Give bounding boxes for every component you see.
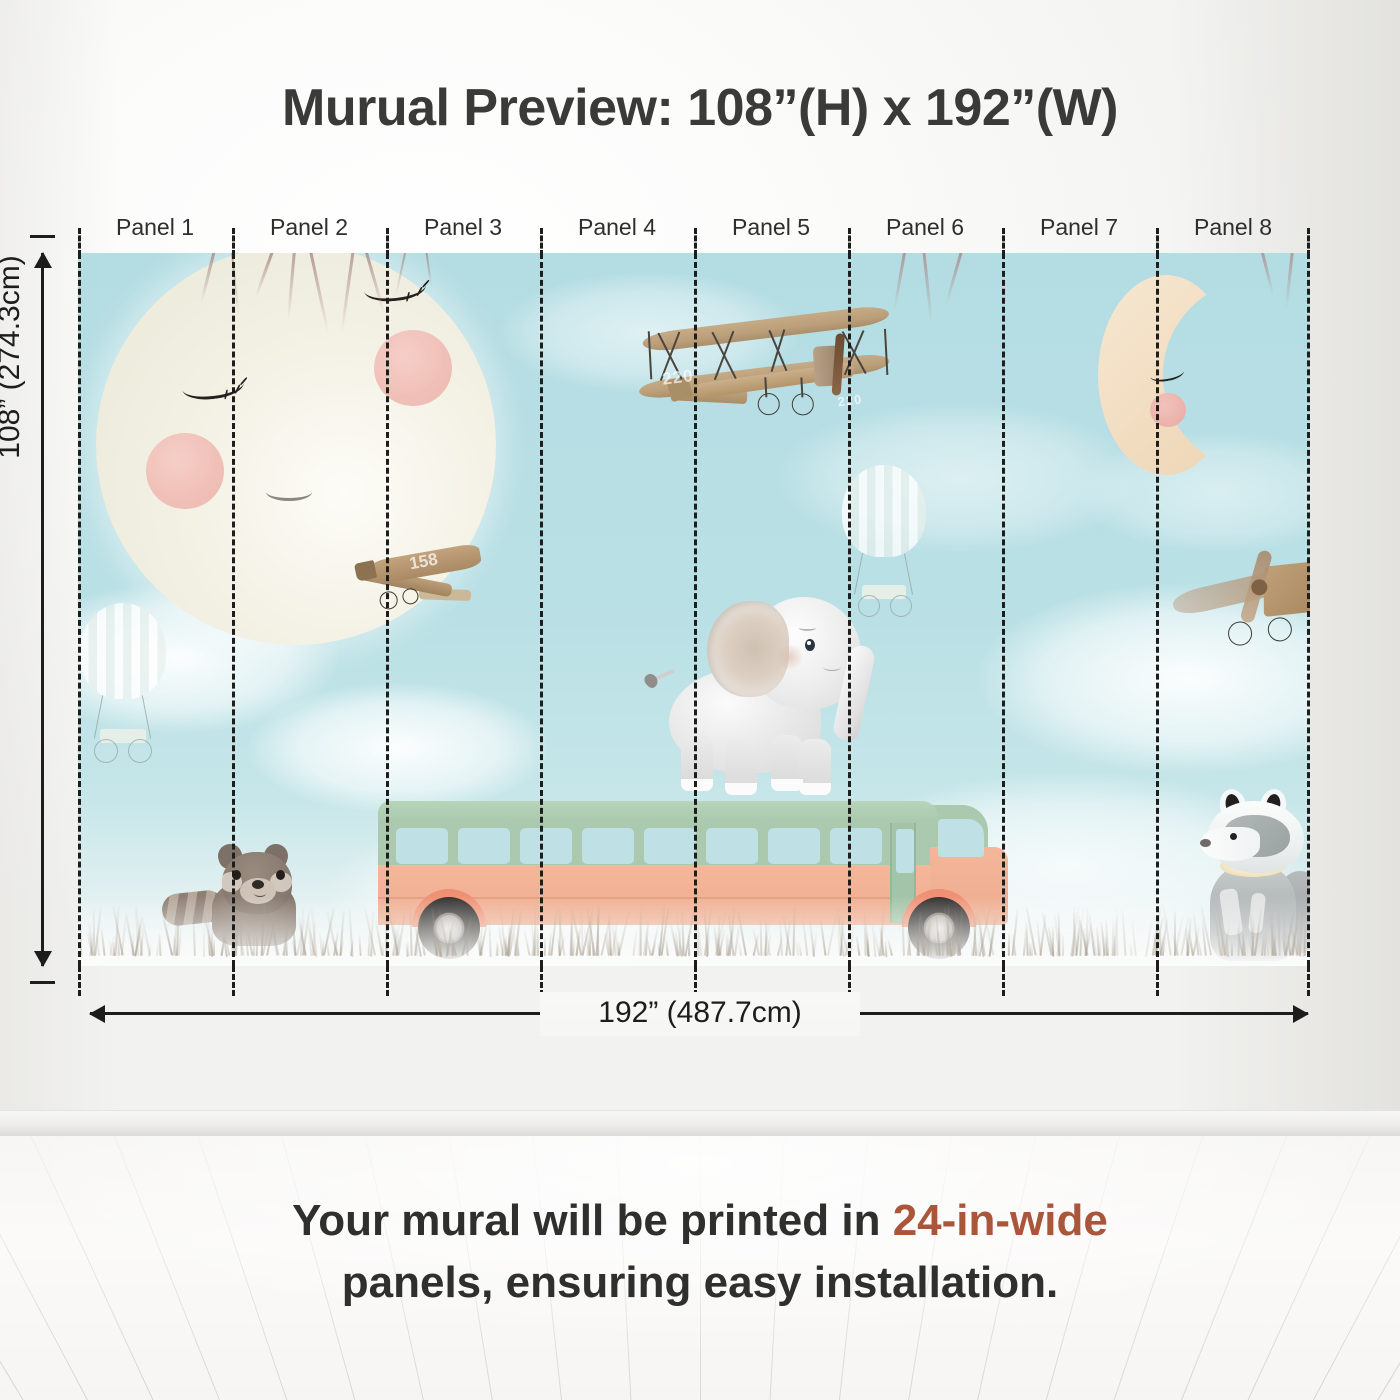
raccoon-eye-right — [276, 870, 285, 880]
grass-blade — [827, 913, 837, 956]
arrowhead-down — [34, 951, 52, 967]
grass-blade — [256, 934, 258, 956]
grass-blade — [632, 929, 637, 956]
grass-blade — [802, 916, 808, 956]
caption-line-1: Your mural will be printed in 24-in-wide — [0, 1190, 1400, 1252]
panel-divider-tick — [1156, 228, 1159, 256]
grass-blade — [517, 940, 520, 956]
grass-blade — [537, 929, 539, 956]
caption-block: Your mural will be printed in 24-in-wide… — [0, 1190, 1400, 1314]
biplane-marking-right: 220 — [837, 391, 863, 409]
grass-blade — [793, 906, 796, 956]
crescent-moon-cheek — [1150, 393, 1186, 427]
elephant-ear — [707, 601, 789, 697]
grass-blade — [410, 906, 413, 956]
grass-blade — [971, 944, 973, 956]
panel-divider-tick — [232, 228, 235, 256]
biplane-wheel — [757, 393, 780, 416]
grass-blade — [901, 906, 905, 956]
grass-blade — [1277, 907, 1280, 956]
elephant-cheek-blush — [775, 645, 805, 669]
grass-blade — [1303, 926, 1305, 956]
caption-line-2: panels, ensuring easy installation. — [0, 1252, 1400, 1314]
balloon-envelope — [80, 603, 166, 699]
grass-blade — [849, 923, 855, 956]
baby-elephant — [663, 589, 893, 807]
panel-divider-tick — [694, 228, 697, 256]
panel-divider-ticks-top — [78, 228, 1310, 254]
panel-divider-tick — [78, 966, 81, 996]
grass-blades — [78, 886, 1310, 966]
moon-closed-eye-left — [181, 369, 246, 402]
grass-blade — [856, 936, 860, 956]
plane-right-fuselage — [1264, 559, 1310, 617]
grass-blade — [489, 919, 492, 956]
grass-blade — [202, 923, 204, 956]
panel-divider-tick — [386, 966, 389, 996]
bus-cab-window — [938, 819, 984, 857]
raccoon-eye-left — [232, 870, 241, 880]
panel-divider-tick — [540, 228, 543, 256]
width-dimension-label: 192” (487.7cm) — [0, 996, 1400, 1030]
grass-blade — [421, 935, 426, 956]
vintage-plane-right — [1168, 544, 1310, 662]
dimension-tick-top — [30, 235, 55, 238]
panel-divider-tick — [386, 228, 389, 256]
grass-blade — [385, 928, 388, 956]
panel-divider-tick — [1156, 966, 1159, 996]
grass-blade — [665, 939, 668, 956]
wall-baseboard — [0, 1110, 1400, 1136]
grass-blade — [738, 942, 742, 956]
biplane-strut — [884, 329, 888, 375]
bus-window — [768, 828, 820, 864]
elephant-foot — [725, 783, 757, 795]
grass-blade — [929, 934, 932, 956]
grass-blade — [158, 933, 161, 956]
grass-blade — [253, 935, 255, 956]
grass-blade — [820, 918, 827, 956]
bus-window — [830, 828, 882, 864]
grass-blade — [1130, 942, 1133, 956]
caption-accent-24-in-wide: 24-in-wide — [893, 1196, 1108, 1245]
grass-blade — [1116, 908, 1118, 956]
plane-right-wheel — [1267, 616, 1293, 642]
grass-blade — [1122, 909, 1127, 956]
grass-blade — [121, 913, 127, 956]
grass-blade — [1099, 940, 1101, 956]
grass-blade — [617, 941, 619, 956]
bus-window — [458, 828, 510, 864]
grass-blade — [684, 906, 695, 956]
elephant-smile — [823, 663, 841, 671]
grass-blade — [192, 909, 195, 956]
bus-window — [582, 828, 634, 864]
grass-blade — [1008, 933, 1010, 956]
fox-eye — [1230, 833, 1237, 840]
moon-cheek-right — [374, 330, 452, 406]
moon-cheek-left — [146, 433, 224, 509]
monoplane-wheel — [379, 590, 399, 610]
grass-blade — [1271, 923, 1273, 956]
panel-divider-tick — [1002, 966, 1005, 996]
grass-blade — [760, 918, 762, 956]
elephant-foot — [799, 783, 831, 795]
grass-blade — [1062, 935, 1064, 957]
grass-blade — [348, 907, 353, 956]
biplane-aircraft: 220 220 — [635, 304, 906, 438]
grass-blade — [1131, 921, 1136, 956]
panel-divider-tick — [232, 966, 235, 996]
height-dimension-arrow — [41, 253, 44, 966]
arrowhead-up — [34, 252, 52, 268]
grass-blade — [381, 942, 383, 956]
hot-air-balloon-left — [80, 603, 170, 783]
grass-blade — [597, 906, 599, 956]
grass-blade — [160, 910, 172, 955]
panel-divider-tick — [1307, 966, 1310, 996]
grass-blade — [358, 935, 361, 956]
crescent-moon — [1098, 275, 1234, 475]
caption-line-1-text: Your mural will be printed in — [292, 1196, 893, 1245]
balloon-wheel — [128, 739, 152, 763]
panel-divider-tick — [848, 228, 851, 256]
wall-scene: Murual Preview: 108”(H) x 192”(W) Panel … — [0, 0, 1400, 1110]
panel-divider-tick — [1307, 228, 1310, 256]
grass-blade — [239, 910, 242, 956]
grass-blade — [100, 928, 105, 956]
bus-window — [520, 828, 572, 864]
balloon-envelope — [842, 465, 926, 557]
monoplane-158: 158 — [351, 535, 482, 636]
grass-blade — [1174, 911, 1176, 956]
grass-blade — [495, 941, 497, 956]
grass-blade — [887, 939, 892, 956]
moon-closed-eye-right — [363, 272, 427, 304]
panel-divider-tick — [78, 228, 81, 256]
grass-blade — [941, 941, 943, 956]
grass-blade — [1000, 939, 1003, 956]
grass-blade — [953, 925, 956, 956]
grass-blade — [1273, 935, 1276, 956]
bus-window — [706, 828, 758, 864]
biplane-marking-left: 220 — [661, 366, 695, 390]
panel-divider-tick — [1002, 228, 1005, 256]
grass-blade — [885, 940, 887, 956]
elephant-eye — [805, 639, 815, 651]
plane-right-wheel — [1227, 620, 1253, 646]
grass-blade — [1254, 909, 1262, 956]
grass-blade — [80, 923, 82, 956]
balloon-wheel — [94, 739, 118, 763]
elephant-brow — [799, 625, 816, 631]
elephant-foot — [681, 779, 713, 791]
mural-preview-artwork[interactable]: 220 220 158 — [78, 253, 1310, 966]
page-title: Murual Preview: 108”(H) x 192”(W) — [0, 78, 1400, 138]
grass-blade — [681, 911, 684, 956]
grass-blade — [544, 937, 546, 956]
grass-blade — [326, 942, 329, 956]
grass-blade — [291, 915, 296, 956]
balloon-wheel — [890, 595, 912, 617]
bus-window — [644, 828, 696, 864]
grass-blade — [232, 932, 235, 956]
fox-nose — [1200, 839, 1211, 847]
height-dimension-label: 108” (274.3cm) — [0, 37, 27, 677]
grass-blade — [523, 931, 530, 956]
moon-smile — [266, 483, 312, 501]
bus-window — [396, 828, 448, 864]
dimension-tick-bottom — [30, 981, 55, 984]
grass-blade — [1231, 943, 1233, 956]
grass-blade — [213, 939, 215, 956]
